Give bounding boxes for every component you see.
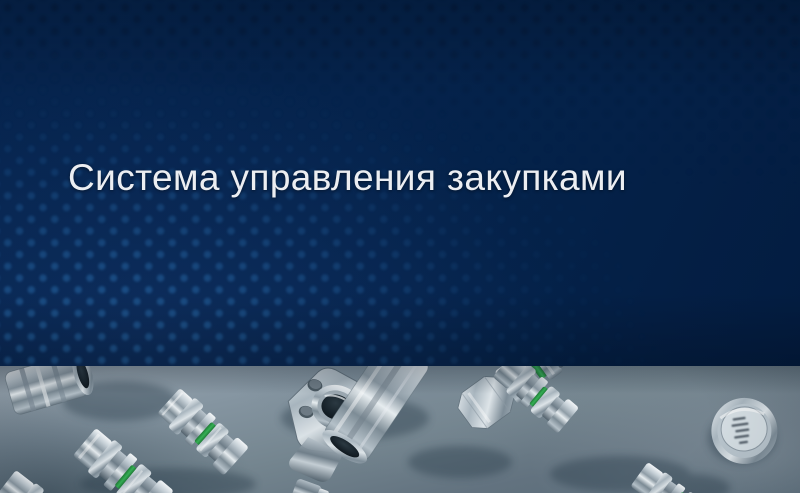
title-banner: Система управления закупками [0,0,800,366]
presentation-slide: Система управления закупками [0,0,800,493]
pipe-fittings-photograph [0,366,800,493]
page-title: Система управления закупками [68,156,768,200]
photo-objects-illustration [0,366,800,493]
press-coupling-bottom-left [0,468,51,493]
end-cap-stamped [707,394,782,469]
